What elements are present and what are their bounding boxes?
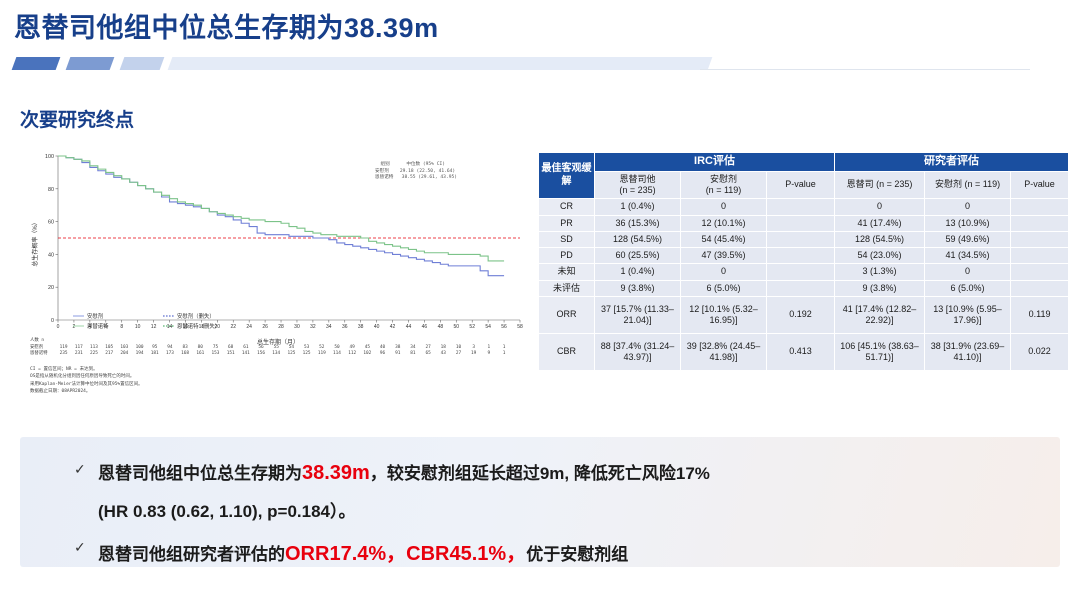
table-cell-2-2 bbox=[767, 231, 835, 247]
svg-text:40: 40 bbox=[48, 252, 54, 258]
svg-text:0: 0 bbox=[57, 324, 60, 330]
table-cell-3-4: 41 (34.5%) bbox=[925, 248, 1011, 264]
footnote-line: CI = 置信区间；NR = 未达到。 bbox=[30, 366, 143, 373]
svg-text:14: 14 bbox=[167, 324, 173, 330]
table-cell-1-4: 13 (10.9%) bbox=[925, 215, 1011, 231]
table-body: CR1 (0.4%)000PR36 (15.3%)12 (10.1%)41 (1… bbox=[539, 199, 1069, 371]
table-cell-2-4: 59 (49.6%) bbox=[925, 231, 1011, 247]
conclusion-os-value: 38.39m bbox=[302, 462, 370, 484]
response-table: 最佳客观缓解 IRC评估 研究者评估 恩替司他(n = 235)安慰剂(n = … bbox=[538, 152, 1068, 371]
svg-text:28: 28 bbox=[278, 324, 284, 330]
table-cell-0-4: 0 bbox=[925, 199, 1011, 215]
svg-text:40: 40 bbox=[374, 324, 380, 330]
table-cell-3-5 bbox=[1011, 248, 1069, 264]
table-cell-3-2 bbox=[767, 248, 835, 264]
divider-segment-1 bbox=[12, 57, 61, 70]
svg-text:56: 56 bbox=[501, 324, 507, 330]
table-cell-1-5 bbox=[1011, 215, 1069, 231]
divider-segment-2 bbox=[66, 57, 115, 70]
svg-text:34: 34 bbox=[326, 324, 332, 330]
table-cell-5-1: 6 (5.0%) bbox=[681, 280, 767, 296]
svg-text:38: 38 bbox=[358, 324, 364, 330]
table-header-row-groups: 最佳客观缓解 IRC评估 研究者评估 bbox=[539, 153, 1069, 172]
svg-text:60: 60 bbox=[48, 220, 54, 226]
table-row: PD60 (25.5%)47 (39.5%)54 (23.0%)41 (34.5… bbox=[539, 248, 1069, 264]
table-row-label-SD: SD bbox=[539, 231, 595, 247]
table-sub-header-4: 安慰剂 (n = 119) bbox=[925, 171, 1011, 199]
table-row: PR36 (15.3%)12 (10.1%)41 (17.4%)13 (10.9… bbox=[539, 215, 1069, 231]
conclusion-line-1-text-a: 恩替司他组中位总生存期为 bbox=[98, 464, 302, 483]
svg-text:恩替诺特（删失）: 恩替诺特（删失） bbox=[177, 322, 220, 330]
svg-text:12: 12 bbox=[151, 324, 157, 330]
table-row: 未知1 (0.4%)03 (1.3%)0 bbox=[539, 264, 1069, 280]
table-row: CR1 (0.4%)000 bbox=[539, 199, 1069, 215]
table-row-label-CR: CR bbox=[539, 199, 595, 215]
table-cell-5-3: 9 (3.8%) bbox=[835, 280, 925, 296]
svg-text:36: 36 bbox=[342, 324, 348, 330]
svg-text:0: 0 bbox=[51, 318, 54, 324]
table-cell-5-4: 6 (5.0%) bbox=[925, 280, 1011, 296]
svg-text:2: 2 bbox=[73, 324, 76, 330]
svg-text:8: 8 bbox=[120, 324, 123, 330]
table-cell-2-1: 54 (45.4%) bbox=[681, 231, 767, 247]
section-heading: 次要研究终点 bbox=[20, 105, 134, 132]
table-header-row-subs: 恩替司他(n = 235)安慰剂(n = 119)P-value恩替司 (n =… bbox=[539, 171, 1069, 199]
svg-text:22: 22 bbox=[230, 324, 236, 330]
chart-footnotes: CI = 置信区间；NR = 未达到。OS是指从随机化分组到因任何原因导致死亡的… bbox=[30, 366, 143, 395]
check-icon-2: ✓ bbox=[74, 539, 86, 556]
table-sub-header-5: P-value bbox=[1011, 171, 1069, 199]
conclusion-line-3-text-b: 优于安慰剂组 bbox=[526, 545, 628, 564]
svg-text:42: 42 bbox=[390, 324, 396, 330]
svg-text:44: 44 bbox=[406, 324, 412, 330]
table-cell-6-5: 0.119 bbox=[1011, 296, 1069, 333]
svg-text:安慰剂: 安慰剂 bbox=[87, 312, 103, 320]
table-cell-4-4: 0 bbox=[925, 264, 1011, 280]
table-cell-7-5: 0.022 bbox=[1011, 333, 1069, 370]
table-cell-4-0: 1 (0.4%) bbox=[595, 264, 681, 280]
table-group-header-irc: IRC评估 bbox=[595, 153, 835, 172]
table-cell-4-1: 0 bbox=[681, 264, 767, 280]
table-cell-4-3: 3 (1.3%) bbox=[835, 264, 925, 280]
svg-text:48: 48 bbox=[438, 324, 444, 330]
table-cell-5-2 bbox=[767, 280, 835, 296]
at-risk-table: 人数 n 安慰剂11911711310510310095948380756861… bbox=[30, 338, 512, 358]
table-cell-6-0: 37 [15.7% (11.33–21.04)] bbox=[595, 296, 681, 333]
table-cell-6-1: 12 [10.1% (5.32–16.95)] bbox=[681, 296, 767, 333]
svg-text:24: 24 bbox=[246, 324, 252, 330]
conclusion-line-1: 恩替司他组中位总生存期为38.39m，较安慰剂组延长超过9m, 降低死亡风险17… bbox=[98, 459, 710, 485]
km-y-axis-label: 总生存概率（%） bbox=[31, 219, 39, 266]
svg-text:46: 46 bbox=[422, 324, 428, 330]
table-cell-5-5 bbox=[1011, 280, 1069, 296]
table-head: 最佳客观缓解 IRC评估 研究者评估 恩替司他(n = 235)安慰剂(n = … bbox=[539, 153, 1069, 199]
table-cell-1-3: 41 (17.4%) bbox=[835, 215, 925, 231]
check-icon-1: ✓ bbox=[74, 461, 86, 478]
footnote-line: OS是指从随机化分组到因任何原因导致死亡的时间。 bbox=[30, 373, 143, 380]
divider-hairline bbox=[700, 69, 1030, 70]
best-objective-response-table: 最佳客观缓解 IRC评估 研究者评估 恩替司他(n = 235)安慰剂(n = … bbox=[538, 152, 1069, 371]
conclusion-line-2: (HR 0.83 (0.62, 1.10), p=0.184）。 bbox=[98, 497, 356, 522]
table-cell-6-4: 13 [10.9% (5.95–17.96)] bbox=[925, 296, 1011, 333]
conclusion-line-3: 恩替司他组研究者评估的ORR17.4%，CBR45.1%，优于安慰剂组 bbox=[98, 537, 628, 566]
table-cell-7-1: 39 [32.8% (24.45–41.98)] bbox=[681, 333, 767, 370]
conclusion-orr-value: ORR17.4%， bbox=[285, 543, 406, 565]
table-cell-0-2 bbox=[767, 199, 835, 215]
table-cell-4-5 bbox=[1011, 264, 1069, 280]
table-cell-1-1: 12 (10.1%) bbox=[681, 215, 767, 231]
table-corner-header: 最佳客观缓解 bbox=[539, 153, 595, 199]
table-row-label-CBR: CBR bbox=[539, 333, 595, 370]
table-row: SD128 (54.5%)54 (45.4%)128 (54.5%)59 (49… bbox=[539, 231, 1069, 247]
svg-text:100: 100 bbox=[45, 154, 54, 160]
table-sub-header-1: 安慰剂(n = 119) bbox=[681, 171, 767, 199]
svg-text:80: 80 bbox=[48, 187, 54, 193]
table-cell-2-3: 128 (54.5%) bbox=[835, 231, 925, 247]
table-cell-0-5 bbox=[1011, 199, 1069, 215]
divider-segment-3 bbox=[120, 57, 165, 70]
svg-text:恩替诺特: 恩替诺特 bbox=[87, 322, 109, 330]
svg-text:52: 52 bbox=[469, 324, 475, 330]
conclusion-box: ✓ 恩替司他组中位总生存期为38.39m，较安慰剂组延长超过9m, 降低死亡风险… bbox=[20, 437, 1060, 567]
svg-text:54: 54 bbox=[485, 324, 491, 330]
svg-text:50: 50 bbox=[453, 324, 459, 330]
table-sub-header-3: 恩替司 (n = 235) bbox=[835, 171, 925, 199]
table-cell-2-0: 128 (54.5%) bbox=[595, 231, 681, 247]
svg-text:26: 26 bbox=[262, 324, 268, 330]
table-cell-5-0: 9 (3.8%) bbox=[595, 280, 681, 296]
svg-text:32: 32 bbox=[310, 324, 316, 330]
table-row-label-PD: PD bbox=[539, 248, 595, 264]
at-risk-row: 安慰剂1191171131051031009594838075686156555… bbox=[30, 345, 512, 352]
table-cell-6-3: 41 [17.4% (12.82–22.92)] bbox=[835, 296, 925, 333]
table-sub-header-0: 恩替司他(n = 235) bbox=[595, 171, 681, 199]
svg-text:20: 20 bbox=[48, 285, 54, 291]
table-cell-4-2 bbox=[767, 264, 835, 280]
table-cell-0-0: 1 (0.4%) bbox=[595, 199, 681, 215]
table-cell-6-2: 0.192 bbox=[767, 296, 835, 333]
footnote-line: 采用Kaplan-Meier法计算中位时间及其95%置信区间。 bbox=[30, 381, 143, 388]
table-cell-7-3: 106 [45.1% (38.63–51.71)] bbox=[835, 333, 925, 370]
table-cell-1-0: 36 (15.3%) bbox=[595, 215, 681, 231]
at-risk-row: 恩替诺特235231225217204194181173168161153151… bbox=[30, 351, 512, 358]
table-row: ORR37 [15.7% (11.33–21.04)]12 [10.1% (5.… bbox=[539, 296, 1069, 333]
table-cell-2-5 bbox=[1011, 231, 1069, 247]
conclusion-cbr-value: CBR45.1%， bbox=[406, 543, 526, 565]
table-cell-3-1: 47 (39.5%) bbox=[681, 248, 767, 264]
at-risk-header: 人数 n bbox=[30, 338, 512, 345]
km-median-summary: 组别 中位数 (95% CI) 安慰剂 29.18 (22.50, 41.64)… bbox=[375, 162, 525, 182]
table-sub-header-2: P-value bbox=[767, 171, 835, 199]
table-cell-3-0: 60 (25.5%) bbox=[595, 248, 681, 264]
table-cell-7-0: 88 [37.4% (31.24–43.97)] bbox=[595, 333, 681, 370]
conclusion-line-1-text-b: ，较安慰剂组延长超过9m, 降低死亡风险17% bbox=[370, 464, 710, 483]
title-divider-decoration bbox=[0, 57, 1080, 77]
table-row-label-PR: PR bbox=[539, 215, 595, 231]
divider-segment-4 bbox=[168, 57, 713, 70]
table-cell-7-2: 0.413 bbox=[767, 333, 835, 370]
km-legend: 安慰剂恩替诺特安慰剂（删失）恩替诺特（删失） bbox=[73, 312, 220, 330]
table-cell-1-2 bbox=[767, 215, 835, 231]
table-cell-7-4: 38 [31.9% (23.69–41.10)] bbox=[925, 333, 1011, 370]
conclusion-line-3-text-a: 恩替司他组研究者评估的 bbox=[98, 545, 285, 564]
page-title: 恩替司他组中位总生存期为38.39m bbox=[14, 6, 439, 45]
table-group-header-investigator: 研究者评估 bbox=[835, 153, 1069, 172]
svg-text:58: 58 bbox=[517, 324, 523, 330]
table-cell-3-3: 54 (23.0%) bbox=[835, 248, 925, 264]
table-row-label-未评估: 未评估 bbox=[539, 280, 595, 296]
footnote-line: 数据截止日期：08APR2024。 bbox=[30, 388, 143, 395]
table-row-label-未知: 未知 bbox=[539, 264, 595, 280]
svg-text:安慰剂（删失）: 安慰剂（删失） bbox=[177, 312, 215, 320]
table-row-label-ORR: ORR bbox=[539, 296, 595, 333]
table-row: 未评估9 (3.8%)6 (5.0%)9 (3.8%)6 (5.0%) bbox=[539, 280, 1069, 296]
table-row: CBR88 [37.4% (31.24–43.97)]39 [32.8% (24… bbox=[539, 333, 1069, 370]
table-cell-0-3: 0 bbox=[835, 199, 925, 215]
svg-text:10: 10 bbox=[135, 324, 141, 330]
svg-text:30: 30 bbox=[294, 324, 300, 330]
table-cell-0-1: 0 bbox=[681, 199, 767, 215]
